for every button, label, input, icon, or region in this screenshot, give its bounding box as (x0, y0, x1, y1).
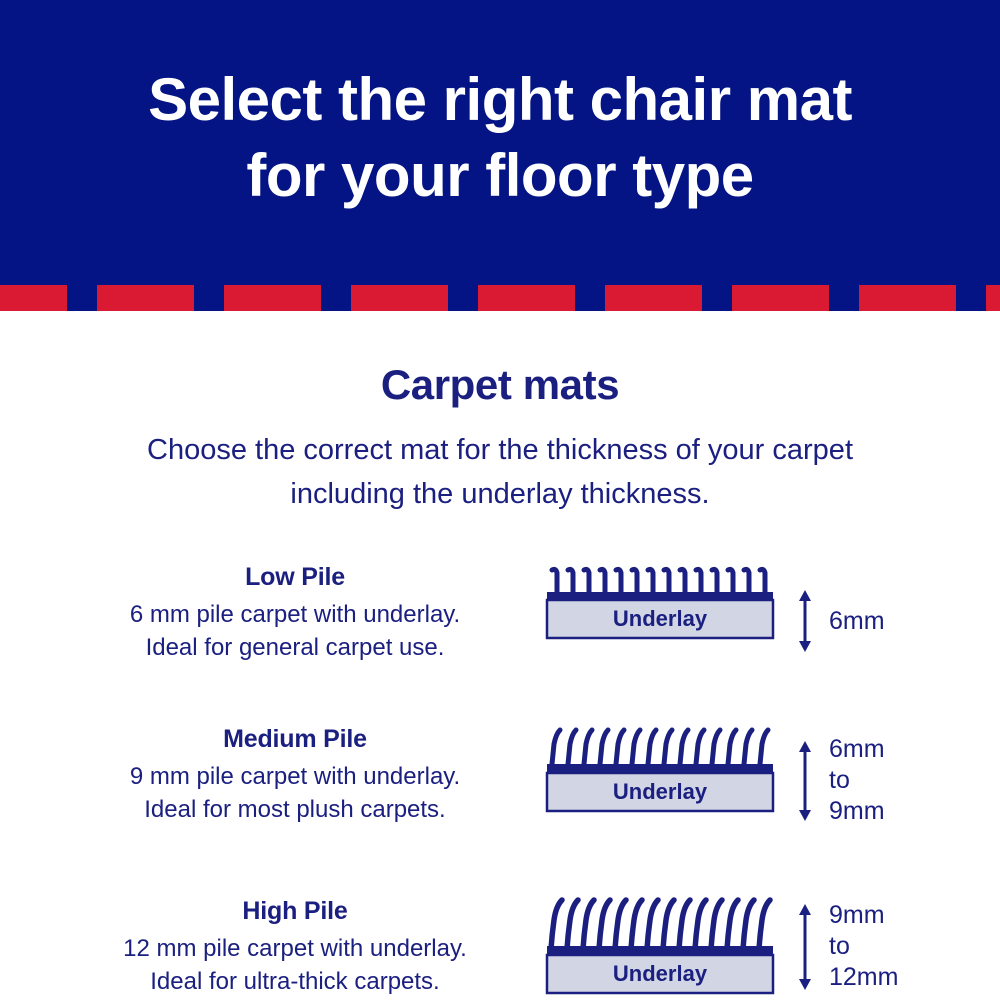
carpet-diagram-medium-pile: Underlay (540, 722, 790, 822)
carpet-row-medium-pile: Medium Pile 9 mm pile carpet with underl… (0, 722, 1000, 872)
carpet-diagram-low-pile: Underlay (540, 560, 790, 650)
stripe-dash (732, 285, 829, 311)
measure-high-pile: 9mm to 12mm (795, 900, 945, 993)
pile-strands-icon (552, 569, 765, 593)
row-description: 9 mm pile carpet with underlay. Ideal fo… (60, 760, 530, 826)
high-pile-svg: Underlay (540, 894, 790, 1000)
row-text-block: High Pile 12 mm pile carpet with underla… (60, 894, 530, 998)
row-heading: High Pile (60, 894, 530, 928)
row-description: 12 mm pile carpet with underlay. Ideal f… (60, 932, 530, 998)
section-subtitle: Choose the correct mat for the thickness… (0, 428, 1000, 516)
row-description: 6 mm pile carpet with underlay. Ideal fo… (60, 598, 530, 664)
measure-low-pile: 6mm (795, 590, 945, 652)
row-heading: Medium Pile (60, 722, 530, 756)
medium-pile-svg: Underlay (540, 722, 790, 822)
underlay-label: Underlay (613, 606, 708, 631)
row-text-block: Low Pile 6 mm pile carpet with underlay.… (60, 560, 530, 664)
measure-label: 9mm to 12mm (829, 900, 898, 993)
underlay-label: Underlay (613, 961, 708, 986)
row-text-block: Medium Pile 9 mm pile carpet with underl… (60, 722, 530, 826)
double-arrow-icon (795, 741, 815, 821)
stripe-dash (478, 285, 575, 311)
low-pile-svg: Underlay (540, 560, 790, 650)
stripe-dash (859, 285, 956, 311)
double-arrow-icon (795, 590, 815, 652)
carpet-diagram-high-pile: Underlay (540, 894, 790, 1000)
carpet-backing (547, 946, 773, 955)
underlay-label: Underlay (613, 779, 708, 804)
measure-label: 6mm (829, 606, 885, 637)
stripe-dash (986, 285, 1000, 311)
stripe-dash (0, 285, 67, 311)
stripe-dash (97, 285, 194, 311)
row-heading: Low Pile (60, 560, 530, 594)
measure-medium-pile: 6mm to 9mm (795, 734, 945, 827)
section-title: Carpet mats (0, 361, 1000, 409)
carpet-row-high-pile: High Pile 12 mm pile carpet with underla… (0, 894, 1000, 1000)
stripe-dash (224, 285, 321, 311)
double-arrow-icon (795, 904, 815, 990)
carpet-row-low-pile: Low Pile 6 mm pile carpet with underlay.… (0, 560, 1000, 710)
page-title: Select the right chair mat for your floo… (0, 62, 1000, 214)
header-banner: Select the right chair mat for your floo… (0, 0, 1000, 311)
red-dashed-stripe (0, 285, 1000, 311)
stripe-dash (605, 285, 702, 311)
infographic-page: Select the right chair mat for your floo… (0, 0, 1000, 1000)
pile-strands-icon (551, 900, 770, 949)
carpet-backing (547, 764, 773, 773)
measure-label: 6mm to 9mm (829, 734, 885, 827)
stripe-dash (351, 285, 448, 311)
pile-strands-icon (552, 730, 768, 764)
